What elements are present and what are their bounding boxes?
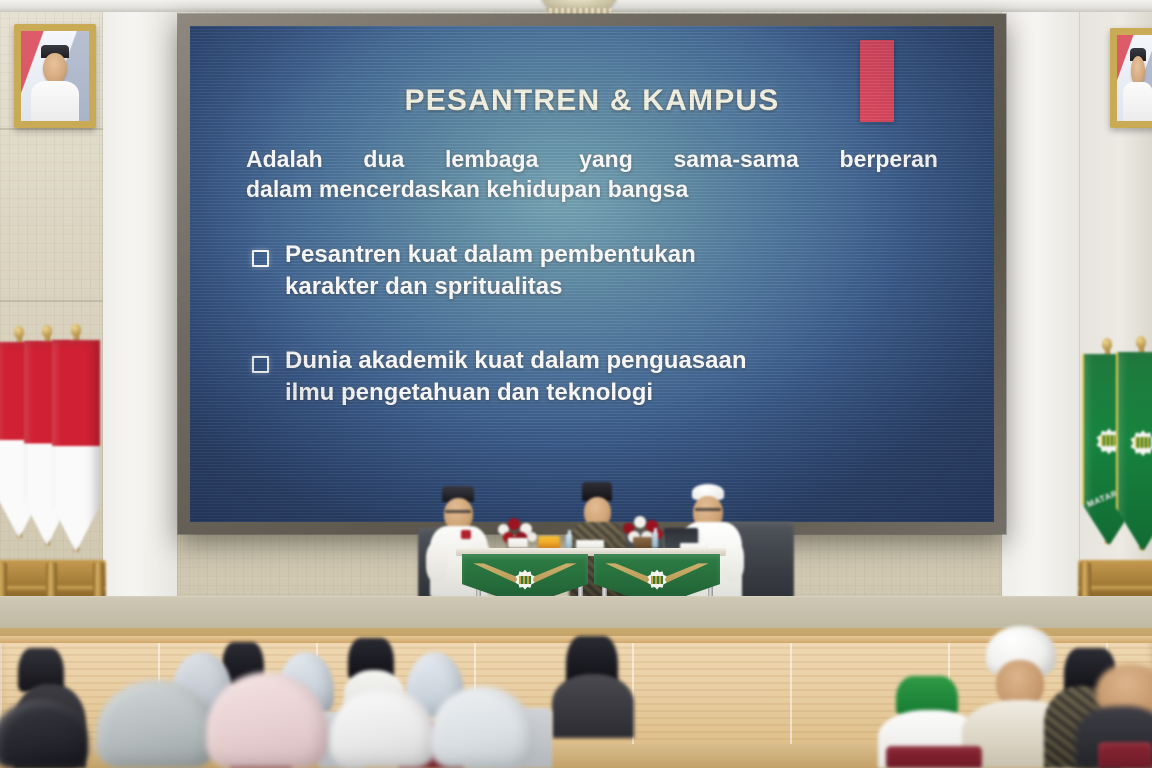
document-papers xyxy=(508,538,528,548)
speaker-arm xyxy=(720,540,744,582)
speaker-lapel-pin xyxy=(461,530,471,539)
audience-member xyxy=(552,674,634,738)
audience-member xyxy=(430,686,534,768)
flag-stand-leg xyxy=(1080,562,1091,600)
bloom xyxy=(527,532,537,542)
audience-member xyxy=(0,700,88,768)
bullet-line-2: ilmu pengetahuan dan teknologi xyxy=(285,377,747,409)
water-bottle xyxy=(652,532,658,548)
bullet-line-2: karakter dan spritualitas xyxy=(285,271,696,303)
bloom xyxy=(634,516,646,528)
flag-finial xyxy=(1102,338,1112,350)
audience-chair xyxy=(1098,742,1152,768)
indonesian-flag xyxy=(52,340,100,552)
speaker-glasses-icon xyxy=(445,510,471,513)
official-portrait-left xyxy=(14,24,96,128)
slide-accent-bar xyxy=(860,40,894,122)
slide-title: PESANTREN & KAMPUS xyxy=(236,84,948,118)
bouquet-blooms xyxy=(620,514,666,539)
flag-emblem-icon xyxy=(1130,430,1152,456)
flag-cloth xyxy=(1116,352,1152,552)
table-skirt-emblem-icon xyxy=(647,570,667,590)
square-bullet-icon xyxy=(252,250,269,267)
audience-member xyxy=(96,680,216,768)
bullet-line-1: Pesantren kuat dalam pembentukan xyxy=(285,239,696,271)
indonesian-flag-group xyxy=(0,300,110,600)
slide-bullet-list: Pesantren kuat dalam pembentukan karakte… xyxy=(236,239,948,410)
table-skirt-emblem-icon xyxy=(515,570,535,590)
speaker-arm xyxy=(426,542,448,582)
slide-lead-paragraph: Adalah dua lembaga yang sama-sama berper… xyxy=(236,144,948,205)
institutional-flag-group: MATARAM xyxy=(1082,300,1152,600)
flag-cloth xyxy=(52,340,100,552)
slide-lead-line-2: dalam mencerdaskan kehidupan bangsa xyxy=(246,174,938,204)
slide-bullet-text: Dunia akademik kuat dalam penguasaan ilm… xyxy=(285,345,747,409)
flag-stand xyxy=(1078,560,1152,600)
slide-bullet-text: Pesantren kuat dalam pembentukan karakte… xyxy=(285,239,696,303)
audience-member xyxy=(330,688,436,768)
slide-bullet-item: Dunia akademik kuat dalam penguasaan ilm… xyxy=(252,345,932,409)
flag-finial xyxy=(1136,336,1146,348)
institutional-flag xyxy=(1116,352,1152,550)
wall-column-right xyxy=(1002,0,1080,640)
square-bullet-icon xyxy=(252,356,269,373)
hijab-head-covering xyxy=(206,672,328,768)
portrait-head xyxy=(43,53,66,84)
hijab-head-covering xyxy=(0,700,88,768)
audience-shoulders xyxy=(552,674,634,738)
bloom xyxy=(508,518,520,530)
led-screen-bezel: PESANTREN & KAMPUS Adalah dua lembaga ya… xyxy=(178,14,1006,534)
speaker-glasses-icon xyxy=(695,508,721,511)
flag-stand-leg xyxy=(93,562,104,600)
official-portrait-right xyxy=(1110,28,1152,128)
portrait-body xyxy=(31,81,79,122)
slide-lead-line-1: Adalah dua lembaga yang sama-sama berper… xyxy=(246,144,938,174)
flag-finial xyxy=(42,325,52,337)
ceiling-ornament xyxy=(540,0,618,11)
screenshot-root: MATARAM PESANTREN & KAMPUS Adalah dua le… xyxy=(0,0,1152,768)
flag-finial xyxy=(71,324,81,336)
flag-stand-leg xyxy=(0,562,7,600)
flag-stand xyxy=(0,560,106,600)
hijab-head-covering xyxy=(330,688,436,768)
slide-bullet-item: Pesantren kuat dalam pembentukan karakte… xyxy=(252,239,932,303)
presentation-slide: PESANTREN & KAMPUS Adalah dua lembaga ya… xyxy=(190,26,994,522)
portrait-head xyxy=(1131,56,1145,85)
hijab-head-covering xyxy=(430,686,534,768)
audience-chair xyxy=(886,746,982,768)
portrait-body xyxy=(1123,82,1152,121)
led-screen: PESANTREN & KAMPUS Adalah dua lembaga ya… xyxy=(190,26,994,522)
stage-riser xyxy=(0,596,1152,629)
flag-stand-leg xyxy=(46,562,57,600)
hijab-head-covering xyxy=(96,680,216,768)
wall-column-left xyxy=(103,0,177,640)
bullet-line-1: Dunia akademik kuat dalam penguasaan xyxy=(285,345,747,377)
flag-finial xyxy=(14,326,24,338)
flower-bouquet-right xyxy=(620,514,666,550)
audience-member xyxy=(206,672,328,768)
